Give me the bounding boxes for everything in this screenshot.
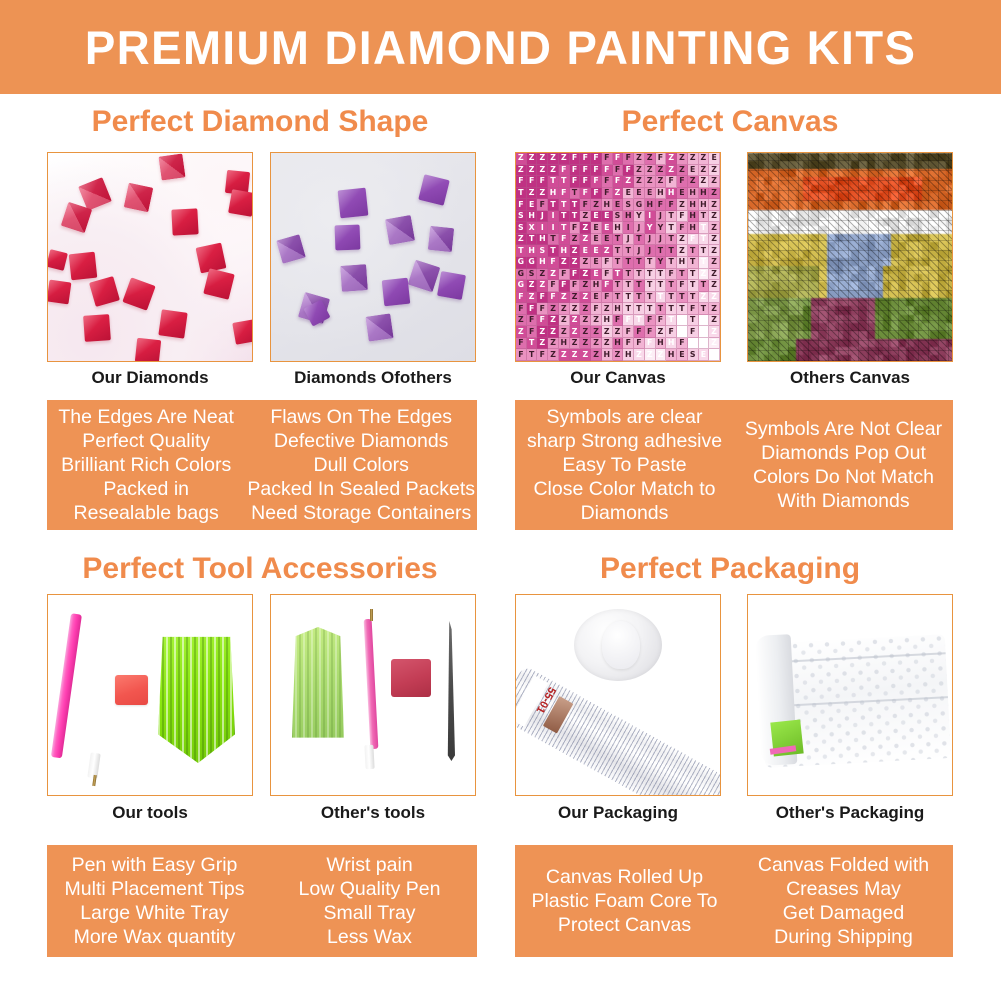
- canvas-symbol-cell: H: [699, 188, 710, 200]
- canvas-symbol-cell: F: [688, 234, 699, 246]
- canvas-symbol-cell: F: [559, 165, 570, 177]
- canvas-symbol-cell: T: [666, 280, 677, 292]
- canvas-symbol-cell: H: [602, 349, 613, 361]
- panel-line: Canvas Rolled Up: [546, 865, 703, 889]
- canvas-symbol-cell: F: [688, 303, 699, 315]
- canvas-symbol-cell: E: [677, 188, 688, 200]
- canvas-symbol-cell: Z: [580, 315, 591, 327]
- canvas-symbol-cell: S: [688, 349, 699, 361]
- canvas-weave-texture: [748, 153, 952, 361]
- canvas-symbol-cell: Z: [580, 338, 591, 350]
- section-heading-diamond-shape: Perfect Diamond Shape: [40, 105, 480, 139]
- canvas-symbol-cell: X: [527, 222, 538, 234]
- canvas-symbol-cell: F: [537, 315, 548, 327]
- canvas-symbol-cell: Z: [677, 199, 688, 211]
- canvas-symbol-cell: Z: [677, 165, 688, 177]
- canvas-symbol-cell: F: [516, 349, 527, 361]
- canvas-symbol-cell: H: [548, 188, 559, 200]
- canvas-symbol-cell: T: [613, 280, 624, 292]
- canvas-symbol-cell: Z: [656, 176, 667, 188]
- canvas-symbol-cell: T: [677, 292, 688, 304]
- drill-pen-needle: [92, 775, 97, 786]
- panel-line: Brilliant Rich Colors: [61, 453, 231, 477]
- canvas-symbol-cell: F: [537, 349, 548, 361]
- canvas-symbol-cell: T: [699, 303, 710, 315]
- diamond-drill: [365, 313, 393, 341]
- canvas-symbol-cell: F: [613, 165, 624, 177]
- diamond-drill: [428, 226, 454, 252]
- canvas-symbol-cell: Z: [559, 349, 570, 361]
- canvas-symbol-cell: T: [634, 280, 645, 292]
- canvas-symbol-cell: Z: [580, 280, 591, 292]
- canvas-symbol-cell: Z: [709, 245, 720, 257]
- canvas-symbol-cell: E: [591, 257, 602, 269]
- canvas-symbol-cell: T: [634, 315, 645, 327]
- photo-others-diamonds: [270, 152, 476, 362]
- canvas-symbol-cell: T: [613, 245, 624, 257]
- canvas-symbol-cell: H: [656, 338, 667, 350]
- panel-line: Symbols are clear: [546, 405, 702, 429]
- canvas-symbol-cell: Z: [516, 326, 527, 338]
- canvas-symbol-cell: Z: [699, 269, 710, 281]
- canvas-symbol-cell: F: [570, 280, 581, 292]
- canvas-symbol-cell: Z: [580, 257, 591, 269]
- canvas-symbol-cell: F: [656, 199, 667, 211]
- canvas-symbol-cell: E: [613, 199, 624, 211]
- canvas-symbol-cell: Z: [645, 349, 656, 361]
- photo-others-packaging: [747, 594, 953, 796]
- canvas-symbol-cell: T: [634, 257, 645, 269]
- canvas-symbol-cell: E: [688, 165, 699, 177]
- canvas-symbol-cell: T: [688, 269, 699, 281]
- canvas-symbol-cell: Z: [699, 165, 710, 177]
- canvas-symbol-cell: Z: [677, 245, 688, 257]
- canvas-symbol-cell: Z: [709, 199, 720, 211]
- canvas-symbol-cell: F: [613, 153, 624, 165]
- canvas-symbol-cell: Z: [570, 234, 581, 246]
- panel-line: Creases May: [786, 877, 901, 901]
- photo-our-tools: [47, 594, 253, 796]
- canvas-symbol-cell: F: [666, 269, 677, 281]
- canvas-symbol-cell: Z: [570, 338, 581, 350]
- canvas-symbol-cell: Z: [656, 165, 667, 177]
- tray-grooves: [287, 627, 349, 741]
- panel-canvas: Symbols are clearsharp Strong adhesiveEa…: [515, 400, 953, 530]
- canvas-symbol-cell: F: [666, 326, 677, 338]
- canvas-symbol-cell: F: [623, 165, 634, 177]
- canvas-symbol-cell: F: [516, 303, 527, 315]
- canvas-symbol-cell: E: [623, 188, 634, 200]
- canvas-symbol-cell: F: [613, 176, 624, 188]
- canvas-symbol-cell: I: [548, 211, 559, 223]
- canvas-symbol-cell: H: [699, 199, 710, 211]
- canvas-symbol-cell: F: [580, 165, 591, 177]
- canvas-symbol-cell: Z: [613, 349, 624, 361]
- canvas-symbol-cell: F: [602, 188, 613, 200]
- canvas-symbol-cell: T: [516, 188, 527, 200]
- canvas-symbol-cell: F: [570, 176, 581, 188]
- canvas-symbol-cell: Z: [559, 153, 570, 165]
- canvas-symbol-cell: H: [537, 257, 548, 269]
- canvas-symbol-cell: T: [656, 280, 667, 292]
- canvas-symbol-cell: T: [677, 269, 688, 281]
- canvas-symbol-cell: S: [537, 245, 548, 257]
- canvas-symbol-cell: Z: [709, 222, 720, 234]
- panel-line: Close Color Match to: [533, 477, 715, 501]
- canvas-symbol-cell: Z: [656, 326, 667, 338]
- canvas-symbol-cell: Z: [677, 153, 688, 165]
- canvas-symbol-cell: Z: [602, 303, 613, 315]
- diamond-drill: [228, 189, 253, 217]
- canvas-symbol-cell: F: [666, 176, 677, 188]
- panel-line: Perfect Quality: [82, 429, 210, 453]
- canvas-symbol-cell: F: [623, 338, 634, 350]
- diamond-drill: [385, 215, 415, 245]
- canvas-symbol-cell: T: [548, 199, 559, 211]
- canvas-symbol-cell: H: [602, 199, 613, 211]
- diamond-drill: [69, 252, 98, 281]
- canvas-symbol-cell: E: [699, 349, 710, 361]
- canvas-symbol-cell: T: [613, 257, 624, 269]
- diamond-drill: [335, 225, 361, 251]
- canvas-symbol-cell: H: [591, 280, 602, 292]
- canvas-symbol-cell: Z: [645, 153, 656, 165]
- canvas-symbol-cell: H: [559, 245, 570, 257]
- panel-line: With Diamonds: [777, 489, 909, 513]
- drill-pen-tip: [364, 745, 374, 769]
- canvas-symbol-cell: T: [688, 280, 699, 292]
- canvas-symbol-cell: Z: [709, 211, 720, 223]
- canvas-symbol-cell: T: [666, 257, 677, 269]
- canvas-symbol-cell: Z: [699, 176, 710, 188]
- canvas-symbol-cell: T: [656, 303, 667, 315]
- canvas-symbol-cell: Z: [709, 349, 720, 361]
- canvas-symbol-cell: S: [527, 269, 538, 281]
- canvas-symbol-cell: E: [709, 153, 720, 165]
- canvas-symbol-cell: F: [645, 315, 656, 327]
- canvas-symbol-cell: Z: [699, 326, 710, 338]
- canvas-symbol-cell: F: [580, 199, 591, 211]
- canvas-symbol-cell: I: [537, 222, 548, 234]
- photo-our-diamonds: [47, 152, 253, 362]
- panel-line: Get Damaged: [783, 901, 904, 925]
- panel-column-ours: Canvas Rolled UpPlastic Foam Core ToProt…: [515, 845, 734, 957]
- canvas-symbol-cell: Z: [688, 153, 699, 165]
- canvas-symbol-cell: T: [688, 292, 699, 304]
- canvas-symbol-cell: F: [623, 315, 634, 327]
- canvas-symbol-cell: Z: [570, 326, 581, 338]
- canvas-symbol-cell: Z: [613, 188, 624, 200]
- canvas-symbol-cell: T: [699, 245, 710, 257]
- caption-others-tools: Other's tools: [270, 803, 476, 823]
- canvas-symbol-cell: F: [677, 211, 688, 223]
- canvas-symbol-cell: J: [634, 245, 645, 257]
- canvas-symbol-cell: J: [623, 234, 634, 246]
- canvas-symbol-cell: H: [645, 199, 656, 211]
- canvas-symbol-cell: H: [613, 303, 624, 315]
- diamond-drill: [47, 280, 71, 305]
- tube-cap-nozzle: [602, 621, 640, 669]
- canvas-symbol-cell: F: [623, 326, 634, 338]
- diamond-drill: [158, 309, 187, 338]
- canvas-symbol-cell: Z: [548, 315, 559, 327]
- canvas-symbol-cell: Z: [548, 326, 559, 338]
- canvas-symbol-cell: T: [623, 245, 634, 257]
- canvas-symbol-cell: T: [688, 245, 699, 257]
- canvas-symbol-cell: S: [516, 222, 527, 234]
- canvas-symbol-cell: T: [666, 292, 677, 304]
- caption-our-canvas: Our Canvas: [515, 368, 721, 388]
- canvas-symbol-cell: F: [677, 176, 688, 188]
- diamond-drill: [232, 319, 253, 344]
- canvas-symbol-cell: F: [580, 188, 591, 200]
- canvas-symbol-cell: H: [613, 338, 624, 350]
- canvas-symbol-cell: H: [666, 349, 677, 361]
- canvas-symbol-cell: F: [645, 338, 656, 350]
- canvas-symbol-cell: T: [559, 222, 570, 234]
- canvas-symbol-cell: Z: [709, 315, 720, 327]
- canvas-symbol-cell: F: [634, 338, 645, 350]
- canvas-symbol-cell: T: [699, 211, 710, 223]
- canvas-symbol-cell: J: [656, 211, 667, 223]
- diamond-tray: [287, 627, 349, 741]
- canvas-symbol-cell: F: [656, 315, 667, 327]
- panel-column-ours: The Edges Are NeatPerfect QualityBrillia…: [47, 400, 245, 530]
- panel-column-theirs: Symbols Are Not ClearDiamonds Pop OutCol…: [734, 400, 953, 530]
- canvas-symbol-cell: Z: [580, 269, 591, 281]
- canvas-symbol-cell: Z: [709, 257, 720, 269]
- canvas-symbol-cell: Z: [570, 245, 581, 257]
- section-heading-tool-accessories: Perfect Tool Accessories: [40, 552, 480, 586]
- canvas-symbol-cell: H: [559, 338, 570, 350]
- canvas-symbol-cell: E: [591, 245, 602, 257]
- canvas-symbol-cell: H: [527, 245, 538, 257]
- canvas-symbol-cell: H: [602, 315, 613, 327]
- canvas-symbol-cell: Z: [591, 349, 602, 361]
- canvas-symbol-cell: Z: [688, 176, 699, 188]
- canvas-symbol-cell: F: [602, 292, 613, 304]
- canvas-symbol-cell: Z: [656, 349, 667, 361]
- canvas-symbol-cell: T: [623, 303, 634, 315]
- panel-line: Low Quality Pen: [299, 877, 441, 901]
- canvas-symbol-cell: Z: [666, 165, 677, 177]
- canvas-symbol-cell: Z: [634, 153, 645, 165]
- canvas-symbol-cell: F: [570, 269, 581, 281]
- section-heading-packaging: Perfect Packaging: [510, 552, 950, 586]
- canvas-symbol-cell: G: [516, 257, 527, 269]
- canvas-symbol-cell: H: [666, 338, 677, 350]
- canvas-symbol-cell: H: [688, 199, 699, 211]
- canvas-symbol-cell: Z: [634, 165, 645, 177]
- diamond-drill: [340, 264, 368, 292]
- canvas-symbol-cell: T: [656, 269, 667, 281]
- canvas-symbol-cell: I: [645, 211, 656, 223]
- canvas-symbol-cell: Y: [656, 222, 667, 234]
- canvas-symbol-cell: F: [602, 269, 613, 281]
- canvas-symbol-cell: Z: [709, 338, 720, 350]
- canvas-symbol-cell: T: [666, 234, 677, 246]
- canvas-symbol-cell: Z: [516, 315, 527, 327]
- panel-column-ours: Symbols are clearsharp Strong adhesiveEa…: [515, 400, 734, 530]
- canvas-symbol-cell: H: [623, 349, 634, 361]
- canvas-symbol-cell: T: [656, 245, 667, 257]
- wax-block: [115, 675, 148, 705]
- photo-our-packaging: 55-01: [515, 594, 721, 796]
- panel-column-theirs: Wrist painLow Quality PenSmall TrayLess …: [262, 845, 477, 957]
- canvas-symbol-cell: Z: [602, 326, 613, 338]
- canvas-symbol-cell: T: [527, 349, 538, 361]
- diamond-drill: [338, 188, 369, 219]
- canvas-symbol-cell: Z: [688, 338, 699, 350]
- canvas-symbol-cell: F: [602, 153, 613, 165]
- canvas-symbol-cell: F: [656, 153, 667, 165]
- caption-others-packaging: Other's Packaging: [747, 803, 953, 823]
- canvas-symbol-cell: Z: [709, 303, 720, 315]
- canvas-symbol-cell: F: [591, 153, 602, 165]
- canvas-symbol-cell: T: [613, 269, 624, 281]
- diamond-drill: [124, 183, 154, 213]
- diamond-drill: [171, 208, 198, 235]
- canvas-symbol-cell: T: [666, 315, 677, 327]
- panel-line: Wrist pain: [326, 853, 412, 877]
- canvas-symbol-cell: T: [699, 234, 710, 246]
- canvas-symbol-cell: Z: [709, 165, 720, 177]
- canvas-symbol-cell: Z: [699, 153, 710, 165]
- canvas-symbol-grid: ZZZZZFFFFFFZZFZZZZEZZZZFFFFFFFZZZZZEZZFF…: [516, 153, 720, 361]
- canvas-symbol-cell: F: [645, 326, 656, 338]
- canvas-symbol-cell: H: [666, 188, 677, 200]
- canvas-symbol-cell: F: [688, 326, 699, 338]
- canvas-symbol-cell: Z: [623, 176, 634, 188]
- canvas-symbol-cell: Z: [613, 326, 624, 338]
- panel-line: sharp Strong adhesive: [527, 429, 722, 453]
- canvas-symbol-cell: Z: [559, 292, 570, 304]
- canvas-symbol-cell: T: [645, 292, 656, 304]
- canvas-symbol-cell: G: [527, 257, 538, 269]
- canvas-symbol-cell: H: [623, 211, 634, 223]
- canvas-symbol-cell: F: [548, 280, 559, 292]
- canvas-symbol-cell: T: [634, 303, 645, 315]
- canvas-symbol-cell: I: [623, 222, 634, 234]
- canvas-symbol-cell: F: [559, 234, 570, 246]
- canvas-symbol-cell: Z: [527, 165, 538, 177]
- canvas-symbol-cell: Z: [709, 269, 720, 281]
- header-banner: PREMIUM DIAMOND PAINTING KITS: [0, 0, 1001, 94]
- canvas-symbol-cell: E: [591, 222, 602, 234]
- canvas-symbol-cell: J: [656, 234, 667, 246]
- canvas-symbol-cell: Z: [527, 188, 538, 200]
- canvas-symbol-cell: H: [527, 211, 538, 223]
- wax-block: [391, 659, 431, 697]
- canvas-symbol-cell: F: [602, 176, 613, 188]
- photo-our-canvas: ZZZZZFFFFFFZZFZZZZEZZZZFFFFFFFZZZZZEZZFF…: [515, 152, 721, 362]
- canvas-symbol-cell: F: [527, 326, 538, 338]
- canvas-symbol-cell: E: [591, 269, 602, 281]
- diamond-drill: [437, 271, 466, 300]
- canvas-symbol-cell: F: [591, 176, 602, 188]
- panel-packaging: Canvas Rolled UpPlastic Foam Core ToProt…: [515, 845, 953, 957]
- canvas-symbol-cell: F: [613, 315, 624, 327]
- canvas-symbol-cell: Z: [537, 153, 548, 165]
- panel-line: Colors Do Not Match: [753, 465, 934, 489]
- canvas-symbol-cell: T: [623, 280, 634, 292]
- canvas-symbol-cell: T: [559, 176, 570, 188]
- canvas-symbol-cell: Z: [645, 176, 656, 188]
- canvas-symbol-cell: F: [537, 199, 548, 211]
- canvas-symbol-cell: Z: [591, 199, 602, 211]
- canvas-symbol-cell: F: [527, 315, 538, 327]
- canvas-symbol-cell: I: [548, 222, 559, 234]
- canvas-symbol-cell: Z: [570, 315, 581, 327]
- panel-line: Canvas Folded with: [758, 853, 929, 877]
- canvas-symbol-cell: Z: [559, 303, 570, 315]
- canvas-symbol-cell: Z: [527, 153, 538, 165]
- panel-line: Flaws On The Edges: [270, 405, 452, 429]
- canvas-symbol-cell: E: [527, 199, 538, 211]
- panel-line: Diamonds: [581, 501, 669, 525]
- panel-line: Multi Placement Tips: [65, 877, 245, 901]
- canvas-symbol-cell: T: [548, 245, 559, 257]
- canvas-symbol-cell: F: [537, 303, 548, 315]
- canvas-symbol-cell: Z: [602, 245, 613, 257]
- canvas-symbol-cell: J: [537, 211, 548, 223]
- canvas-symbol-cell: G: [634, 199, 645, 211]
- canvas-symbol-cell: T: [623, 257, 634, 269]
- canvas-symbol-cell: T: [634, 292, 645, 304]
- canvas-symbol-cell: Z: [580, 211, 591, 223]
- canvas-symbol-cell: T: [666, 222, 677, 234]
- canvas-symbol-cell: E: [602, 234, 613, 246]
- canvas-symbol-cell: E: [591, 211, 602, 223]
- canvas-symbol-cell: H: [688, 188, 699, 200]
- canvas-symbol-cell: Z: [527, 280, 538, 292]
- canvas-symbol-cell: Z: [570, 292, 581, 304]
- canvas-symbol-cell: Z: [709, 188, 720, 200]
- canvas-symbol-cell: T: [677, 315, 688, 327]
- canvas-symbol-cell: Z: [548, 303, 559, 315]
- panel-tool-accessories: Pen with Easy GripMulti Placement TipsLa…: [47, 845, 477, 957]
- canvas-symbol-cell: Z: [570, 303, 581, 315]
- canvas-symbol-cell: T: [645, 269, 656, 281]
- canvas-symbol-cell: F: [677, 280, 688, 292]
- photo-others-canvas: [747, 152, 953, 362]
- canvas-symbol-cell: F: [559, 269, 570, 281]
- canvas-symbol-cell: J: [645, 234, 656, 246]
- canvas-symbol-cell: Z: [709, 280, 720, 292]
- canvas-symbol-cell: E: [591, 292, 602, 304]
- canvas-symbol-cell: H: [613, 222, 624, 234]
- canvas-symbol-cell: J: [645, 245, 656, 257]
- canvas-symbol-cell: T: [634, 234, 645, 246]
- tweezers: [443, 621, 455, 761]
- canvas-symbol-cell: Z: [516, 165, 527, 177]
- panel-line: The Edges Are Neat: [58, 405, 234, 429]
- photo-others-tools: [270, 594, 476, 796]
- canvas-symbol-cell: Z: [548, 349, 559, 361]
- canvas-symbol-cell: F: [580, 153, 591, 165]
- canvas-symbol-cell: Z: [548, 269, 559, 281]
- canvas-symbol-cell: Z: [634, 349, 645, 361]
- canvas-symbol-cell: Z: [537, 326, 548, 338]
- canvas-symbol-cell: T: [688, 315, 699, 327]
- drill-pen-body: [51, 613, 82, 758]
- canvas-symbol-cell: Z: [548, 165, 559, 177]
- section-heading-canvas: Perfect Canvas: [510, 105, 950, 139]
- canvas-symbol-cell: G: [516, 280, 527, 292]
- canvas-symbol-cell: F: [570, 153, 581, 165]
- panel-line: Small Tray: [323, 901, 415, 925]
- canvas-symbol-cell: T: [699, 280, 710, 292]
